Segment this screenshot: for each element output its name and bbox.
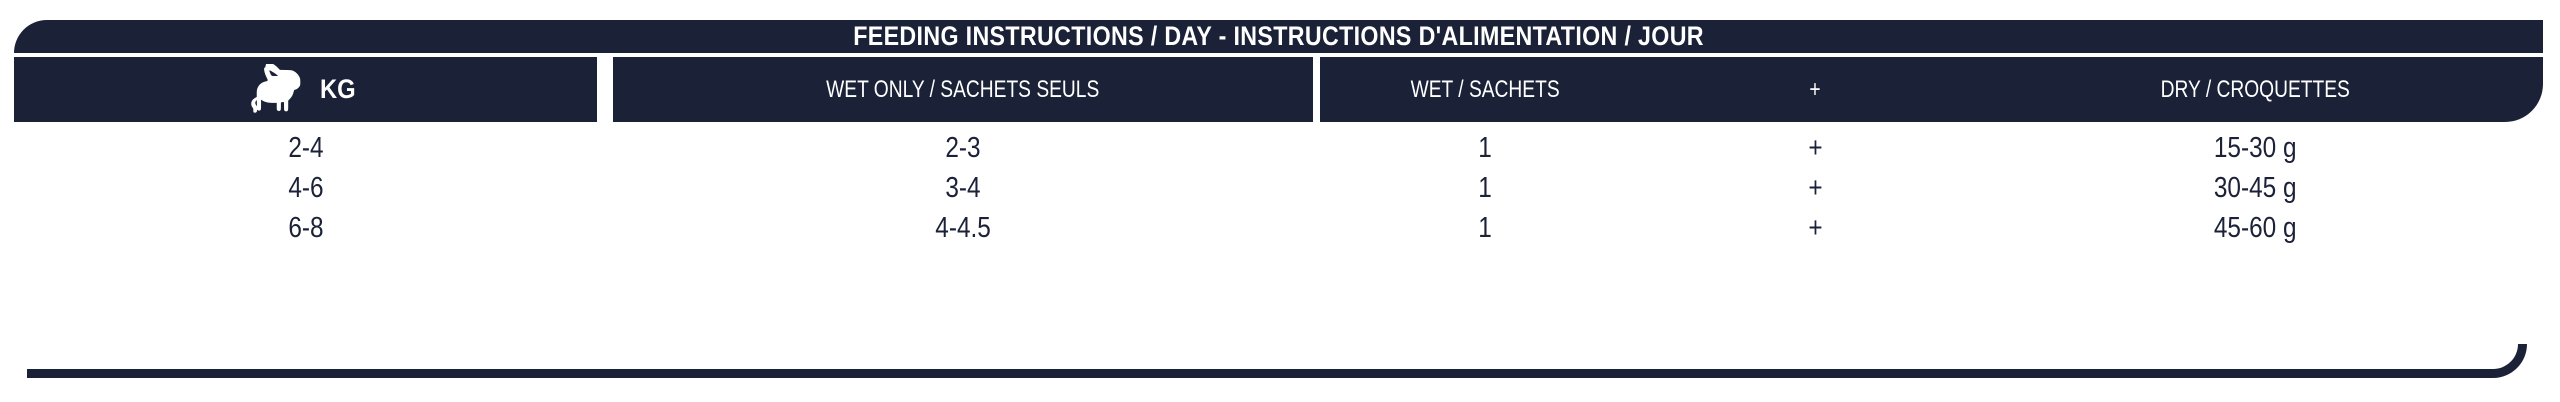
feeding-instructions-table: FEEDING INSTRUCTIONS / DAY - INSTRUCTION… — [0, 0, 2560, 402]
cell-wet: 1 — [1320, 208, 1650, 248]
header-subcell-plus: + — [1720, 57, 1910, 122]
table-title-text: FEEDING INSTRUCTIONS / DAY - INSTRUCTION… — [853, 23, 1704, 50]
header-subcell-wet: WET / SACHETS — [1320, 57, 1650, 122]
table-header-row: KG WET ONLY / SACHETS SEULS WET / SACHET… — [14, 57, 2543, 122]
table-row: 4-6 3-4 1 + 30-45 g — [14, 168, 2543, 208]
cell-wet: 1 — [1320, 128, 1650, 168]
header-label-wet-only: WET ONLY / SACHETS SEULS — [826, 78, 1099, 102]
cell-plus: + — [1720, 128, 1910, 168]
cell-wet-only: 4-4.5 — [613, 208, 1313, 248]
header-cell-wet-only: WET ONLY / SACHETS SEULS — [613, 57, 1313, 122]
header-cell-kg: KG — [14, 57, 597, 122]
table-row: 6-8 4-4.5 1 + 45-60 g — [14, 208, 2543, 248]
cell-kg: 2-4 — [14, 128, 597, 168]
header-label-wet: WET / SACHETS — [1411, 78, 1560, 102]
kg-header-label: KG — [320, 76, 356, 103]
cell-wet-only: 2-3 — [613, 128, 1313, 168]
table-body: 2-4 2-3 1 + 15-30 g 4-6 3-4 1 + 30-45 g … — [14, 128, 2543, 368]
table-row: 2-4 2-3 1 + 15-30 g — [14, 128, 2543, 168]
cell-wet-only: 3-4 — [613, 168, 1313, 208]
cell-dry: 30-45 g — [2010, 168, 2500, 208]
cell-plus: + — [1720, 208, 1910, 248]
cat-icon — [250, 64, 310, 116]
cell-dry: 45-60 g — [2010, 208, 2500, 248]
kg-header-group: KG — [250, 64, 361, 116]
cell-plus: + — [1720, 168, 1910, 208]
table-bottom-rule — [27, 344, 2527, 378]
header-subcell-dry: DRY / CROQUETTES — [2010, 57, 2500, 122]
header-label-dry: DRY / CROQUETTES — [2160, 78, 2349, 102]
header-label-plus: + — [1809, 78, 1820, 102]
table-title-banner: FEEDING INSTRUCTIONS / DAY - INSTRUCTION… — [14, 20, 2543, 53]
cell-wet: 1 — [1320, 168, 1650, 208]
header-cell-wet-plus-dry: WET / SACHETS + DRY / CROQUETTES — [1320, 57, 2543, 122]
cell-kg: 4-6 — [14, 168, 597, 208]
cell-dry: 15-30 g — [2010, 128, 2500, 168]
cell-kg: 6-8 — [14, 208, 597, 248]
